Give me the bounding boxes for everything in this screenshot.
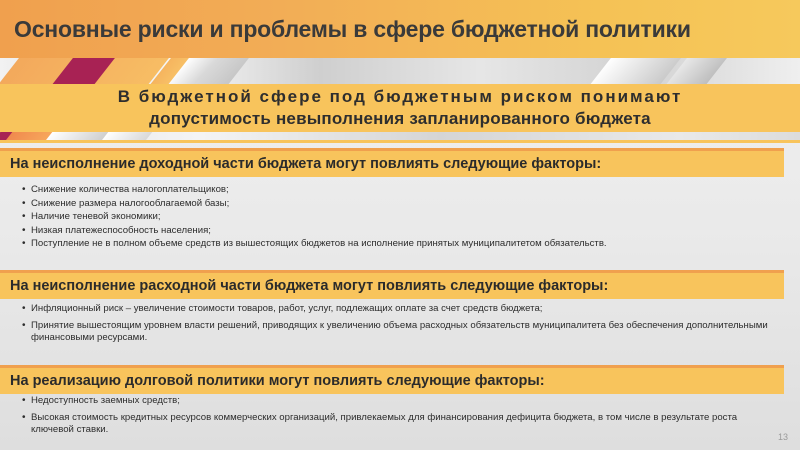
bullet-dot-icon: • — [22, 412, 31, 425]
list-item: • Принятие вышестоящим уровнем власти ре… — [22, 320, 782, 345]
section-header-bar-3: На реализацию долговой политики могут по… — [0, 365, 784, 394]
list-item-text: Инфляционный риск – увеличение стоимости… — [31, 303, 782, 316]
list-item-text: Принятие вышестоящим уровнем власти реше… — [31, 320, 782, 345]
yellow-underline — [0, 140, 800, 143]
list-item: • Поступление не в полном объеме средств… — [22, 238, 782, 251]
section-heading-3: На реализацию долговой политики могут по… — [0, 373, 545, 389]
list-item: • Недоступность заемных средств; — [22, 395, 782, 408]
list-item-text: Низкая платежеспособность населения; — [31, 225, 782, 238]
bullet-dot-icon: • — [22, 225, 31, 238]
bullet-list-1: • Снижение количества налогоплательщиков… — [22, 184, 782, 252]
subtitle-line-1: В бюджетной сфере под бюджетным риском п… — [0, 86, 800, 108]
slide-title: Основные риски и проблемы в сфере бюджет… — [0, 16, 691, 43]
list-item-text: Снижение количества налогоплательщиков; — [31, 184, 782, 197]
bullet-dot-icon: • — [22, 320, 31, 333]
decorative-strip-under-subtitle — [0, 132, 800, 143]
bullet-dot-icon: • — [22, 395, 31, 408]
list-item: • Низкая платежеспособность населения; — [22, 225, 782, 238]
bullet-list-2: • Инфляционный риск – увеличение стоимос… — [22, 303, 782, 349]
bullet-dot-icon: • — [22, 184, 31, 197]
decorative-band-top — [0, 58, 800, 86]
slide-title-bar: Основные риски и проблемы в сфере бюджет… — [0, 0, 800, 58]
list-item: • Высокая стоимость кредитных ресурсов к… — [22, 412, 782, 437]
list-item: • Снижение количества налогоплательщиков… — [22, 184, 782, 197]
page-number: 13 — [778, 432, 788, 442]
list-item-text: Недоступность заемных средств; — [31, 395, 782, 408]
section-header-bar-2: На неисполнение расходной части бюджета … — [0, 270, 784, 299]
section-header-bar-1: На неисполнение доходной части бюджета м… — [0, 148, 784, 177]
bullet-list-3: • Недоступность заемных средств; • Высок… — [22, 395, 782, 441]
bullet-dot-icon: • — [22, 198, 31, 211]
list-item-text: Поступление не в полном объеме средств и… — [31, 238, 782, 251]
list-item-text: Высокая стоимость кредитных ресурсов ком… — [31, 412, 782, 437]
list-item-text: Снижение размера налогооблагаемой базы; — [31, 198, 782, 211]
section-heading-1: На неисполнение доходной части бюджета м… — [0, 156, 601, 172]
section-heading-2: На неисполнение расходной части бюджета … — [0, 278, 608, 294]
bullet-dot-icon: • — [22, 303, 31, 316]
subtitle-line-2: допустимость невыполнения запланированно… — [0, 108, 800, 130]
list-item: • Наличие теневой экономики; — [22, 211, 782, 224]
slide-canvas: Основные риски и проблемы в сфере бюджет… — [0, 0, 800, 450]
list-item: • Снижение размера налогооблагаемой базы… — [22, 198, 782, 211]
subtitle-band: В бюджетной сфере под бюджетным риском п… — [0, 84, 800, 132]
list-item-text: Наличие теневой экономики; — [31, 211, 782, 224]
bullet-dot-icon: • — [22, 238, 31, 251]
list-item: • Инфляционный риск – увеличение стоимос… — [22, 303, 782, 316]
bullet-dot-icon: • — [22, 211, 31, 224]
